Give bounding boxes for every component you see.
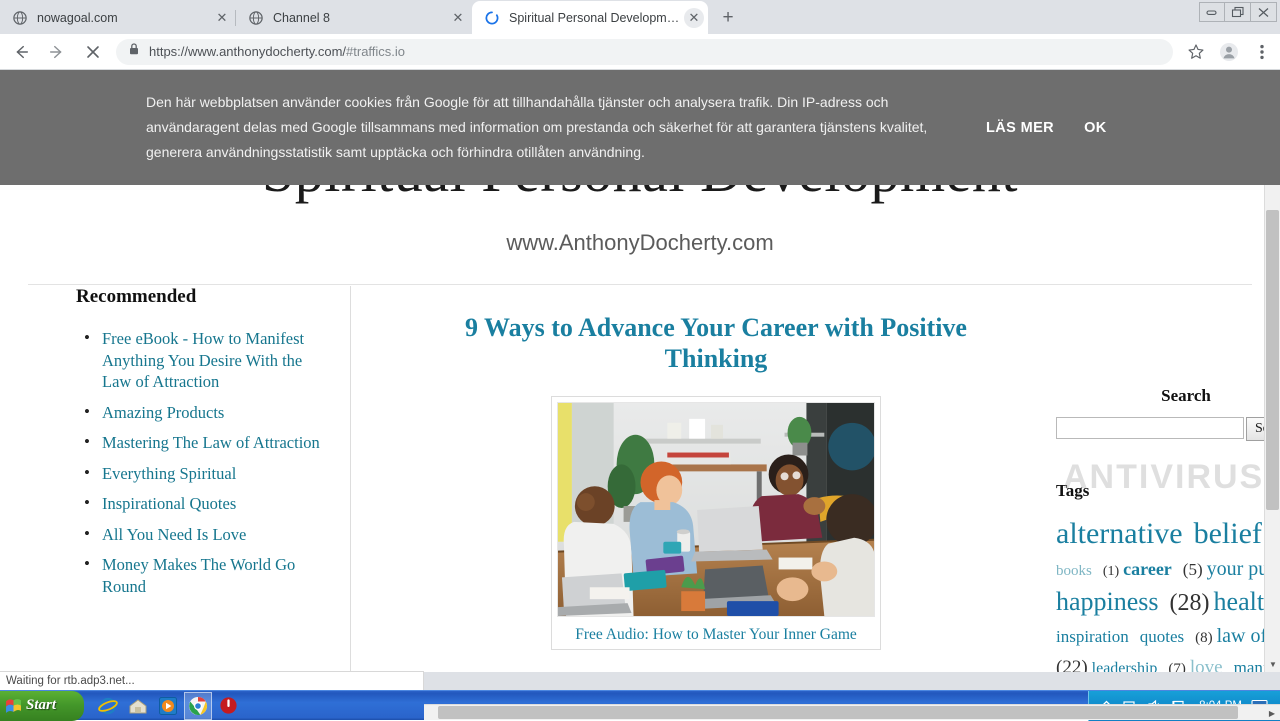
internet-explorer-icon[interactable]: [94, 692, 122, 720]
scroll-down-arrow-icon[interactable]: ▼: [1265, 656, 1280, 672]
ok-button[interactable]: OK: [1084, 120, 1107, 136]
show-desktop-icon[interactable]: [124, 692, 152, 720]
back-button[interactable]: [6, 37, 36, 67]
address-bar[interactable]: https://www.anthonydocherty.com/#traffic…: [116, 39, 1173, 65]
globe-icon: [12, 10, 28, 26]
list-item[interactable]: All You Need Is Love: [76, 524, 328, 546]
recommended-heading: Recommended: [76, 286, 328, 308]
stop-loading-button[interactable]: [78, 37, 108, 67]
tag-link[interactable]: books: [1056, 563, 1092, 579]
sidebar-link[interactable]: Free eBook - How to Manifest Anything Yo…: [102, 329, 304, 391]
status-text: Waiting for rtb.adp3.net...: [6, 675, 135, 687]
list-item[interactable]: Mastering The Law of Attraction: [76, 432, 328, 454]
new-tab-button[interactable]: +: [714, 3, 742, 31]
tag-link[interactable]: love: [1190, 657, 1223, 672]
figure-caption-link[interactable]: Free Audio: How to Master Your Inner Gam…: [557, 626, 875, 644]
sidebar-link[interactable]: Mastering The Law of Attraction: [102, 433, 320, 452]
browser-tab-2[interactable]: Channel 8 ✕: [236, 1, 472, 34]
right-sidebar: Search Search Tags alternative belief (3…: [1056, 286, 1280, 672]
tag-link[interactable]: inspiration: [1056, 627, 1129, 646]
start-button[interactable]: Start: [0, 691, 84, 721]
tab-strip: nowagoal.com ✕ Channel 8 ✕ Spiri: [0, 0, 1280, 34]
tag-count: (22): [1056, 657, 1088, 672]
account-avatar-icon[interactable]: [1214, 37, 1244, 67]
forward-button[interactable]: [42, 37, 72, 67]
horizontal-scrollbar-thumb[interactable]: [438, 706, 1238, 719]
sidebar-link[interactable]: All You Need Is Love: [102, 525, 246, 544]
sidebar-link[interactable]: Amazing Products: [102, 403, 224, 422]
list-item[interactable]: Amazing Products: [76, 402, 328, 424]
recommended-list: Free eBook - How to Manifest Anything Yo…: [76, 328, 328, 597]
tag-link[interactable]: belief: [1194, 517, 1262, 550]
browser-toolbar: https://www.anthonydocherty.com/#traffic…: [0, 34, 1280, 70]
list-item[interactable]: Everything Spiritual: [76, 463, 328, 485]
tag-count: (28): [1170, 590, 1210, 616]
media-player-icon[interactable]: [154, 692, 182, 720]
windows-flag-icon: [5, 697, 22, 714]
tab-close-button[interactable]: ✕: [212, 8, 232, 28]
search-row: Search: [1056, 417, 1280, 441]
globe-icon: [248, 10, 264, 26]
tab-close-button[interactable]: ✕: [684, 8, 704, 28]
tag-count: (1): [1103, 564, 1119, 579]
sidebar-link[interactable]: Money Makes The World Go Round: [102, 555, 295, 596]
search-input[interactable]: [1056, 417, 1244, 439]
list-item[interactable]: Money Makes The World Go Round: [76, 554, 328, 597]
close-icon[interactable]: [1251, 2, 1277, 22]
tag-link[interactable]: happiness: [1056, 587, 1159, 616]
tag-cloud: alternative belief (38) books (1) career…: [1056, 519, 1280, 672]
window-controls: [1199, 2, 1277, 22]
tag-link[interactable]: quotes: [1140, 627, 1184, 646]
three-dot-menu-icon[interactable]: [1247, 37, 1277, 67]
chrome-icon[interactable]: [184, 692, 212, 720]
power-shield-icon[interactable]: [214, 692, 242, 720]
vertical-scrollbar-thumb[interactable]: [1266, 210, 1279, 510]
cookie-consent-text: Den här webbplatsen använder cookies frå…: [146, 90, 946, 165]
sidebar-link[interactable]: Inspirational Quotes: [102, 494, 236, 513]
cookie-consent-banner: Den här webbplatsen använder cookies frå…: [0, 70, 1280, 185]
star-icon[interactable]: [1181, 37, 1211, 67]
browser-tab-1[interactable]: nowagoal.com ✕: [0, 1, 236, 34]
tag-link[interactable]: career: [1123, 559, 1172, 579]
tag-count: (7): [1168, 661, 1186, 672]
tab-title: Channel 8: [273, 11, 444, 25]
address-bar-url: https://www.anthonydocherty.com/#traffic…: [149, 44, 405, 59]
search-heading: Search: [1056, 386, 1280, 406]
team-meeting-photo: [557, 402, 875, 617]
tab-close-button[interactable]: ✕: [448, 8, 468, 28]
cookie-consent-actions: LÄS MER OK: [986, 120, 1137, 136]
quick-launch-bar: [94, 691, 252, 721]
tag-count: (8): [1195, 630, 1213, 646]
loading-spinner-icon: [484, 10, 500, 26]
site-subtitle: www.AnthonyDocherty.com: [28, 230, 1252, 256]
list-item[interactable]: Free eBook - How to Manifest Anything Yo…: [76, 328, 328, 393]
article-title[interactable]: 9 Ways to Advance Your Career with Posit…: [380, 286, 1052, 374]
scroll-right-arrow-icon[interactable]: ▶: [1264, 705, 1280, 721]
url-fragment: #traffics.io: [346, 44, 405, 59]
learn-more-button[interactable]: LÄS MER: [986, 120, 1054, 136]
tab-title: nowagoal.com: [37, 11, 208, 25]
minimize-icon[interactable]: [1199, 2, 1225, 22]
url-main: https://www.anthonydocherty.com/: [149, 44, 346, 59]
main-column: 9 Ways to Advance Your Career with Posit…: [380, 286, 1052, 650]
restore-icon[interactable]: [1225, 2, 1251, 22]
article-figure: Free Audio: How to Master Your Inner Gam…: [551, 396, 881, 650]
list-item[interactable]: Inspirational Quotes: [76, 493, 328, 515]
left-sidebar: Recommended Free eBook - How to Manifest…: [76, 286, 351, 672]
start-label: Start: [26, 697, 56, 714]
browser-tab-3-active[interactable]: Spiritual Personal Development ✕: [472, 1, 708, 34]
tag-link[interactable]: leadership: [1092, 660, 1158, 672]
horizontal-scrollbar[interactable]: ▶: [424, 704, 1280, 720]
status-bar: Waiting for rtb.adp3.net...: [0, 671, 424, 690]
lock-icon: [128, 42, 140, 61]
tag-count: (5): [1183, 560, 1203, 579]
tags-heading: Tags: [1056, 481, 1280, 501]
browser-window: nowagoal.com ✕ Channel 8 ✕ Spiri: [0, 0, 1280, 720]
tag-link[interactable]: alternative: [1056, 517, 1183, 550]
tab-title: Spiritual Personal Development: [509, 11, 680, 25]
sidebar-link[interactable]: Everything Spiritual: [102, 464, 236, 483]
